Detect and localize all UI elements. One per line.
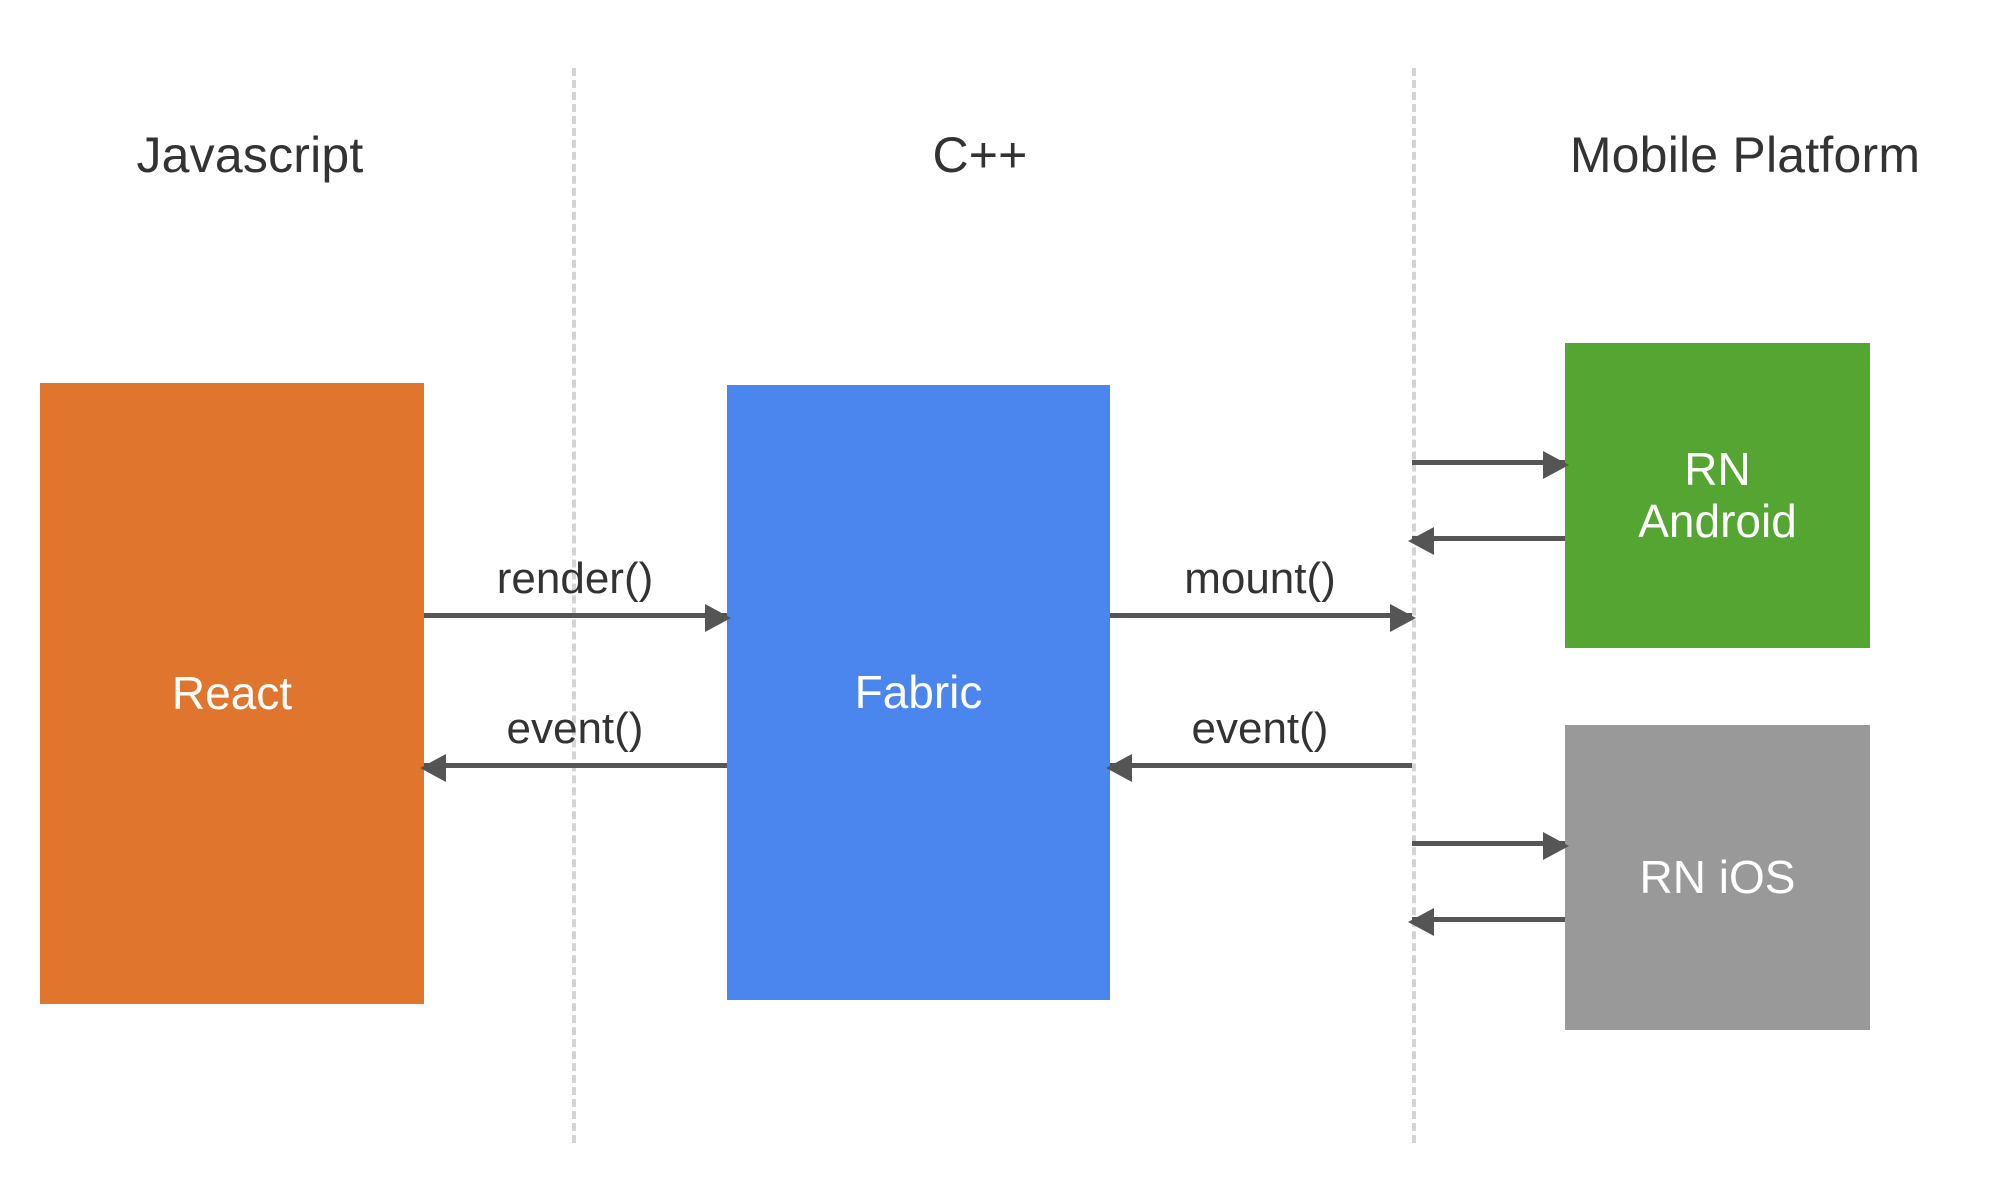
arrow-to-rn-android xyxy=(1412,460,1565,465)
column-title-cpp: C++ xyxy=(730,130,1230,180)
arrow-label-event-js: event() xyxy=(340,707,810,751)
node-fabric[interactable]: Fabric xyxy=(727,385,1110,1000)
node-rn-ios[interactable]: RN iOS xyxy=(1565,725,1870,1030)
node-rn-android[interactable]: RN Android xyxy=(1565,343,1870,648)
arrow-to-rn-ios xyxy=(1412,841,1565,846)
arrow-mount xyxy=(1110,613,1412,618)
arrow-event-to-fabric xyxy=(1110,763,1412,768)
arrow-from-rn-android xyxy=(1412,536,1565,541)
arrow-event-to-react xyxy=(424,763,727,768)
column-title-mobile-platform: Mobile Platform xyxy=(1495,130,1992,180)
arrow-render xyxy=(424,613,727,618)
arrow-label-render: render() xyxy=(340,557,810,601)
arrow-label-event-native: event() xyxy=(1025,707,1495,751)
diagram-canvas: Javascript C++ Mobile Platform React Fab… xyxy=(0,0,1992,1192)
arrow-label-mount: mount() xyxy=(1025,557,1495,601)
column-title-javascript: Javascript xyxy=(0,130,500,180)
node-react[interactable]: React xyxy=(40,383,424,1004)
arrow-from-rn-ios xyxy=(1412,917,1565,922)
column-divider-javascript-cpp xyxy=(572,68,576,1143)
